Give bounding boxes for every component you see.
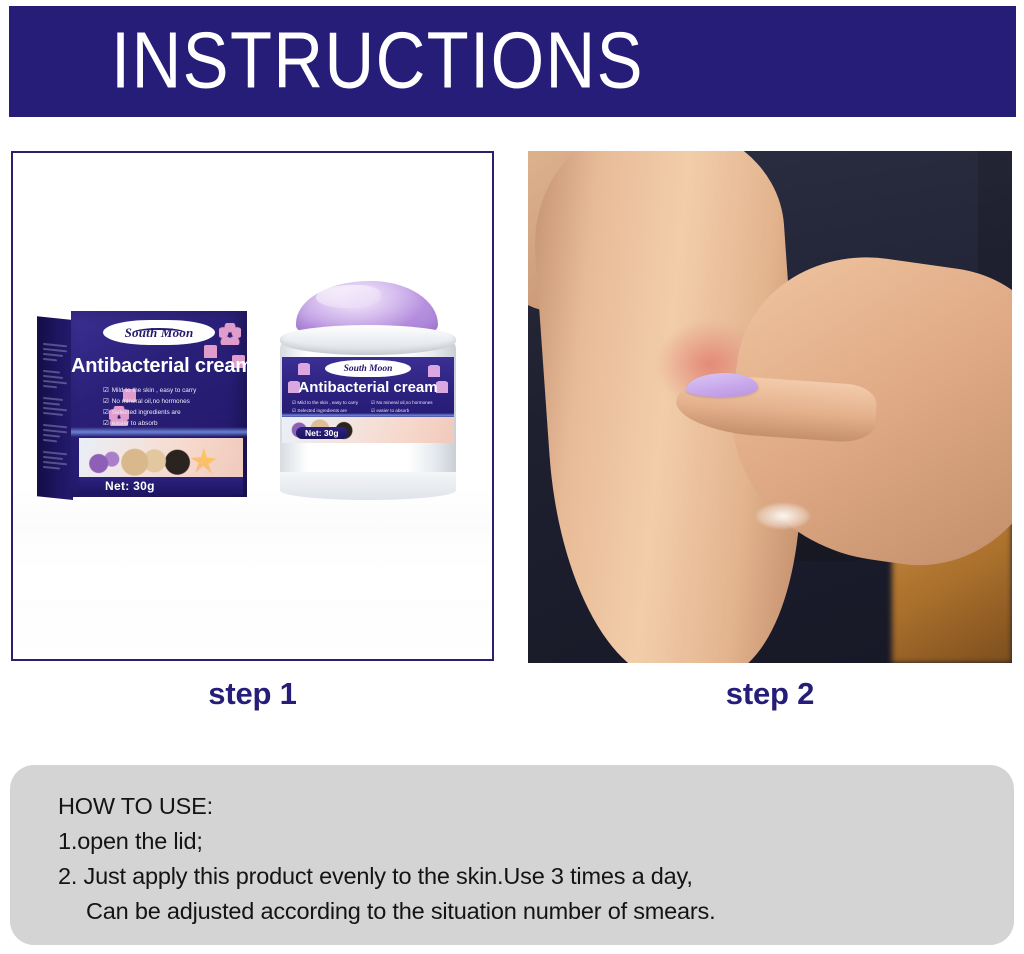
- bullet-item: ☑Selected ingredients are: [103, 407, 235, 418]
- product-scene: South Moon Antibacterial cream ☑Mild to …: [13, 153, 492, 659]
- step-2-caption: step 2: [528, 676, 1012, 712]
- flower-icon: [428, 365, 440, 377]
- brand-logo: South Moon: [103, 320, 215, 345]
- check-icon: ☑: [103, 398, 109, 405]
- net-weight-label: Net: 30g: [105, 479, 155, 493]
- product-name: Antibacterial cream: [282, 379, 454, 396]
- page-title-text: INSTRUCTIONS: [111, 20, 644, 100]
- box-side-text-lines: [43, 343, 67, 466]
- check-icon: ☑: [103, 420, 109, 427]
- jar-rim: [280, 325, 456, 355]
- how-to-use-heading: HOW TO USE:: [58, 789, 1014, 824]
- bullet-item: ☑Mild to the skin , easy to carry: [103, 385, 235, 396]
- steps-gallery: South Moon Antibacterial cream ☑Mild to …: [0, 151, 1024, 663]
- jar-label: South Moon Antibacterial cream ☑ Mild to…: [282, 357, 454, 443]
- surface-reflection: [13, 505, 492, 600]
- step-1-caption: step 1: [11, 676, 494, 712]
- how-to-use-panel: HOW TO USE: 1.open the lid; 2. Just appl…: [10, 765, 1014, 945]
- flower-icon: [219, 323, 241, 345]
- product-box: South Moon Antibacterial cream ☑Mild to …: [37, 311, 247, 503]
- step-captions: step 1 step 2: [0, 676, 1024, 732]
- header-banner: INSTRUCTIONS: [9, 6, 1016, 117]
- check-icon: ☑: [103, 387, 109, 394]
- product-bullet-list: ☑ Mild to the skin , easy to carry ☑ No …: [292, 399, 446, 414]
- bullet-item: ☑ Mild to the skin , easy to carry: [292, 399, 367, 406]
- check-icon: ☑: [103, 409, 109, 416]
- how-to-use-step-1: 1.open the lid;: [58, 824, 1014, 859]
- box-front-face: South Moon Antibacterial cream ☑Mild to …: [71, 311, 247, 497]
- product-name: Antibacterial cream: [71, 355, 247, 378]
- net-weight-label: Net: 30g: [296, 427, 348, 439]
- box-side-panel: [37, 316, 73, 500]
- step-2-image-panel: [528, 151, 1012, 663]
- spark-icon: [191, 448, 217, 474]
- box-net-weight-band: Net: 30g: [79, 477, 243, 495]
- page-title: INSTRUCTIONS: [9, 23, 1016, 97]
- how-to-use-step-2-continued: Can be adjusted according to the situati…: [58, 894, 1014, 929]
- bullet-item: ☑ No mineral oil,no hormones: [371, 399, 446, 406]
- box-ingredient-photo: [79, 438, 243, 482]
- product-bullet-list: ☑Mild to the skin , easy to carry ☑No mi…: [103, 385, 235, 429]
- cream-smear: [756, 503, 810, 529]
- box-sheen-stripe: [71, 427, 247, 437]
- brand-swoosh-icon: [132, 328, 186, 338]
- application-photo: [528, 151, 1012, 663]
- jar-base: [280, 472, 456, 500]
- how-to-use-step-2: 2. Just apply this product evenly to the…: [58, 859, 1014, 894]
- step-1-image-panel: South Moon Antibacterial cream ☑Mild to …: [11, 151, 494, 661]
- product-jar: South Moon Antibacterial cream ☑ Mild to…: [268, 281, 468, 506]
- flower-icon: [298, 363, 310, 375]
- brand-name: South Moon: [325, 360, 411, 377]
- bullet-item: ☑No mineral oil,no hormones: [103, 396, 235, 407]
